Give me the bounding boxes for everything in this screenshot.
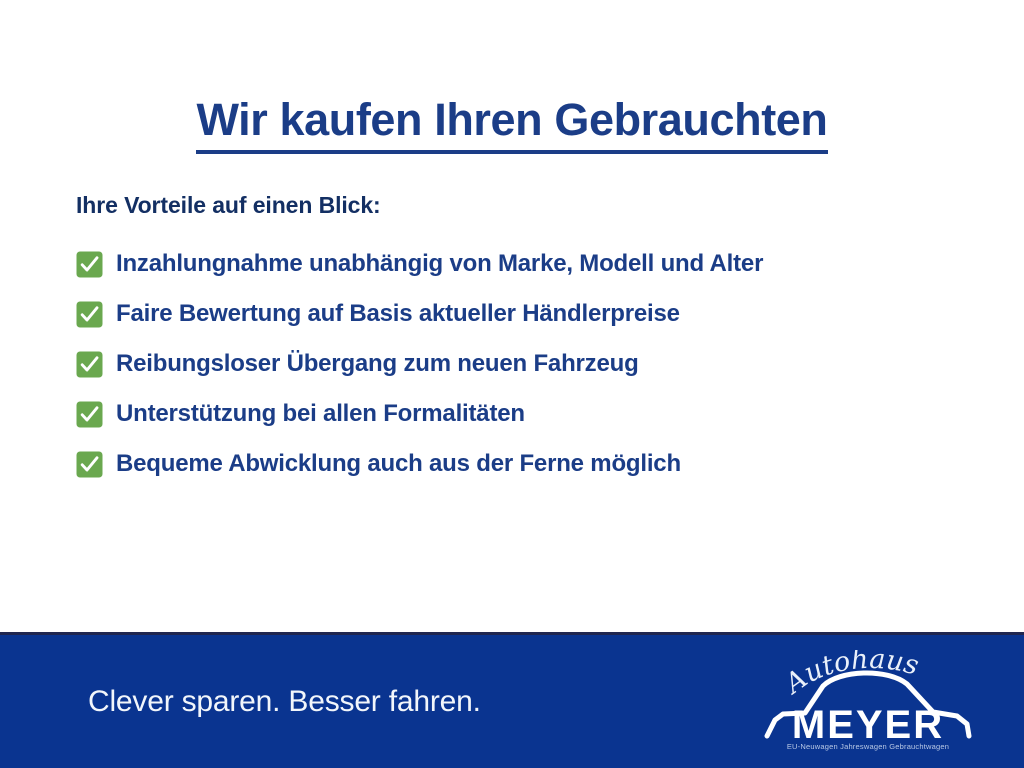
benefits-subheading: Ihre Vorteile auf einen Blick:	[76, 192, 976, 219]
dealer-logo: Autohaus MEYER EU-Neuwagen Jahreswagen G…	[761, 650, 976, 754]
check-box-icon	[76, 251, 103, 278]
page-title: Wir kaufen Ihren Gebrauchten	[196, 96, 827, 154]
list-item: Bequeme Abwicklung auch aus der Ferne mö…	[76, 439, 976, 489]
list-item: Faire Bewertung auf Basis aktueller Händ…	[76, 289, 976, 339]
list-item: Unterstützung bei allen Formalitäten	[76, 389, 976, 439]
list-item: Inzahlungnahme unabhängig von Marke, Mod…	[76, 239, 976, 289]
list-item-label: Unterstützung bei allen Formalitäten	[116, 402, 525, 426]
check-box-icon	[76, 401, 103, 428]
page-title-container: Wir kaufen Ihren Gebrauchten	[0, 66, 1024, 185]
list-item-label: Faire Bewertung auf Basis aktueller Händ…	[116, 302, 680, 326]
list-item: Reibungsloser Übergang zum neuen Fahrzeu…	[76, 339, 976, 389]
logo-script-text: Autohaus	[777, 650, 922, 701]
benefits-section: Ihre Vorteile auf einen Blick: Inzahlung…	[76, 192, 976, 489]
check-box-icon	[76, 301, 103, 328]
check-box-icon	[76, 451, 103, 478]
slide: Wir kaufen Ihren Gebrauchten Ihre Vortei…	[0, 0, 1024, 768]
check-box-icon	[76, 351, 103, 378]
logo-script-textpath: Autohaus	[777, 650, 922, 701]
footer-tagline: Clever sparen. Besser fahren.	[88, 685, 481, 719]
footer-bar: Clever sparen. Besser fahren. Autohaus M…	[0, 632, 1024, 768]
logo-subline: EU-Neuwagen Jahreswagen Gebrauchtwagen	[787, 742, 949, 751]
list-item-label: Bequeme Abwicklung auch aus der Ferne mö…	[116, 452, 681, 476]
list-item-label: Reibungsloser Übergang zum neuen Fahrzeu…	[116, 352, 639, 376]
list-item-label: Inzahlungnahme unabhängig von Marke, Mod…	[116, 252, 763, 276]
benefits-list: Inzahlungnahme unabhängig von Marke, Mod…	[76, 239, 976, 489]
logo-wordmark: MEYER	[792, 703, 944, 747]
